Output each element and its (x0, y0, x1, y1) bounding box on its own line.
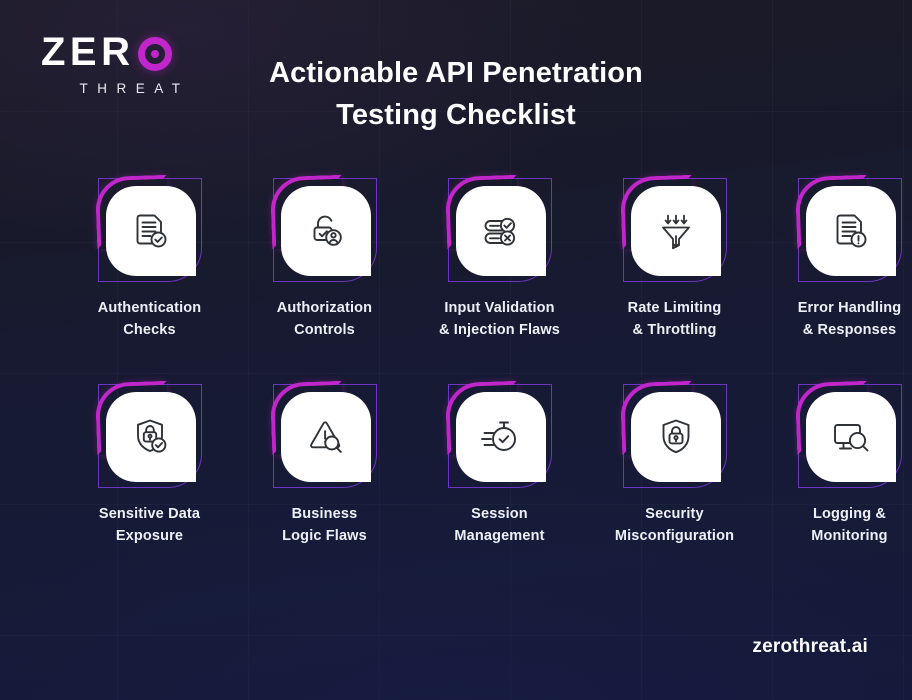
shield-lock-icon (653, 414, 699, 460)
card-label-line-1: Error Handling (762, 298, 912, 320)
card-label-line-2: Monitoring (762, 526, 912, 548)
tile-face (806, 186, 896, 276)
card-label: Business Logic Flaws (237, 504, 412, 547)
card-label-line-1: Sensitive Data (62, 504, 237, 526)
card-label-line-2: & Injection Flaws (412, 320, 587, 342)
target-ring-dot (151, 50, 159, 58)
card-label: Authorization Controls (237, 298, 412, 341)
tile-face (631, 392, 721, 482)
site-url[interactable]: zerothreat.ai (752, 636, 868, 658)
page-title-line-1: Actionable API Penetration (256, 52, 656, 94)
input-fields-validate-icon (478, 208, 524, 254)
card-label-line-1: Business (237, 504, 412, 526)
card-label: Error Handling & Responses (762, 298, 912, 341)
card-tile (273, 178, 377, 282)
checklist-item-authentication-checks[interactable]: Authentication Checks (62, 178, 237, 341)
card-label: Input Validation & Injection Flaws (412, 298, 587, 341)
tile-face (106, 392, 196, 482)
card-tile (448, 384, 552, 488)
logo-subwordmark: THREAT (41, 81, 221, 96)
target-ring-icon (138, 37, 172, 71)
tile-face (456, 392, 546, 482)
checklist-item-error-handling[interactable]: Error Handling & Responses (762, 178, 912, 341)
checklist-item-security-misconfiguration[interactable]: Security Misconfiguration (587, 384, 762, 547)
card-label-line-2: Logic Flaws (237, 526, 412, 548)
card-tile (273, 384, 377, 488)
card-label: Sensitive Data Exposure (62, 504, 237, 547)
checklist-item-business-logic-flaws[interactable]: Business Logic Flaws (237, 384, 412, 547)
checklist-item-input-validation[interactable]: Input Validation & Injection Flaws (412, 178, 587, 341)
card-tile (98, 384, 202, 488)
warning-magnifier-icon (303, 414, 349, 460)
shield-lock-check-icon (128, 414, 174, 460)
tile-face (106, 186, 196, 276)
card-label-line-2: & Responses (762, 320, 912, 342)
tile-face (631, 186, 721, 276)
card-label-line-1: Authentication (62, 298, 237, 320)
card-label-line-2: Checks (62, 320, 237, 342)
document-alert-icon (828, 208, 874, 254)
logo-wordmark-row: ZER (41, 32, 221, 72)
checklist-item-rate-limiting[interactable]: Rate Limiting & Throttling (587, 178, 762, 341)
card-label-line-1: Logging & (762, 504, 912, 526)
checklist-item-authorization-controls[interactable]: Authorization Controls (237, 178, 412, 341)
card-tile (623, 384, 727, 488)
brand-logo[interactable]: ZER THREAT (41, 32, 221, 96)
lock-user-icon (303, 208, 349, 254)
stopwatch-check-icon (478, 414, 524, 460)
card-tile (623, 178, 727, 282)
card-label-line-2: Controls (237, 320, 412, 342)
logo-wordmark: ZER (41, 32, 135, 72)
tile-face (456, 186, 546, 276)
card-label-line-1: Input Validation (412, 298, 587, 320)
card-tile (448, 178, 552, 282)
checklist-item-sensitive-data-exposure[interactable]: Sensitive Data Exposure (62, 384, 237, 547)
tile-face (281, 392, 371, 482)
card-label-line-1: Session (412, 504, 587, 526)
card-tile (98, 178, 202, 282)
card-label-line-2: Exposure (62, 526, 237, 548)
card-label: Logging & Monitoring (762, 504, 912, 547)
card-label-line-1: Authorization (237, 298, 412, 320)
funnel-arrows-icon (654, 209, 698, 253)
card-label: Authentication Checks (62, 298, 237, 341)
checklist-item-logging-monitoring[interactable]: Logging & Monitoring (762, 384, 912, 547)
card-label-line-2: & Throttling (587, 320, 762, 342)
card-label-line-2: Management (412, 526, 587, 548)
page-title: Actionable API Penetration Testing Check… (256, 52, 656, 136)
card-label: Rate Limiting & Throttling (587, 298, 762, 341)
card-label-line-2: Misconfiguration (587, 526, 762, 548)
card-label: Security Misconfiguration (587, 504, 762, 547)
document-check-icon (128, 208, 174, 254)
card-label-line-1: Rate Limiting (587, 298, 762, 320)
checklist-item-session-management[interactable]: Session Management (412, 384, 587, 547)
tile-face (281, 186, 371, 276)
card-label: Session Management (412, 504, 587, 547)
monitor-magnifier-icon (828, 414, 874, 460)
checklist-grid: Authentication Checks (62, 178, 862, 547)
infographic-page: ZER THREAT Actionable API Penetration Te… (0, 0, 912, 700)
tile-face (806, 392, 896, 482)
card-label-line-1: Security (587, 504, 762, 526)
card-tile (798, 178, 902, 282)
card-tile (798, 384, 902, 488)
page-title-line-2: Testing Checklist (256, 94, 656, 136)
